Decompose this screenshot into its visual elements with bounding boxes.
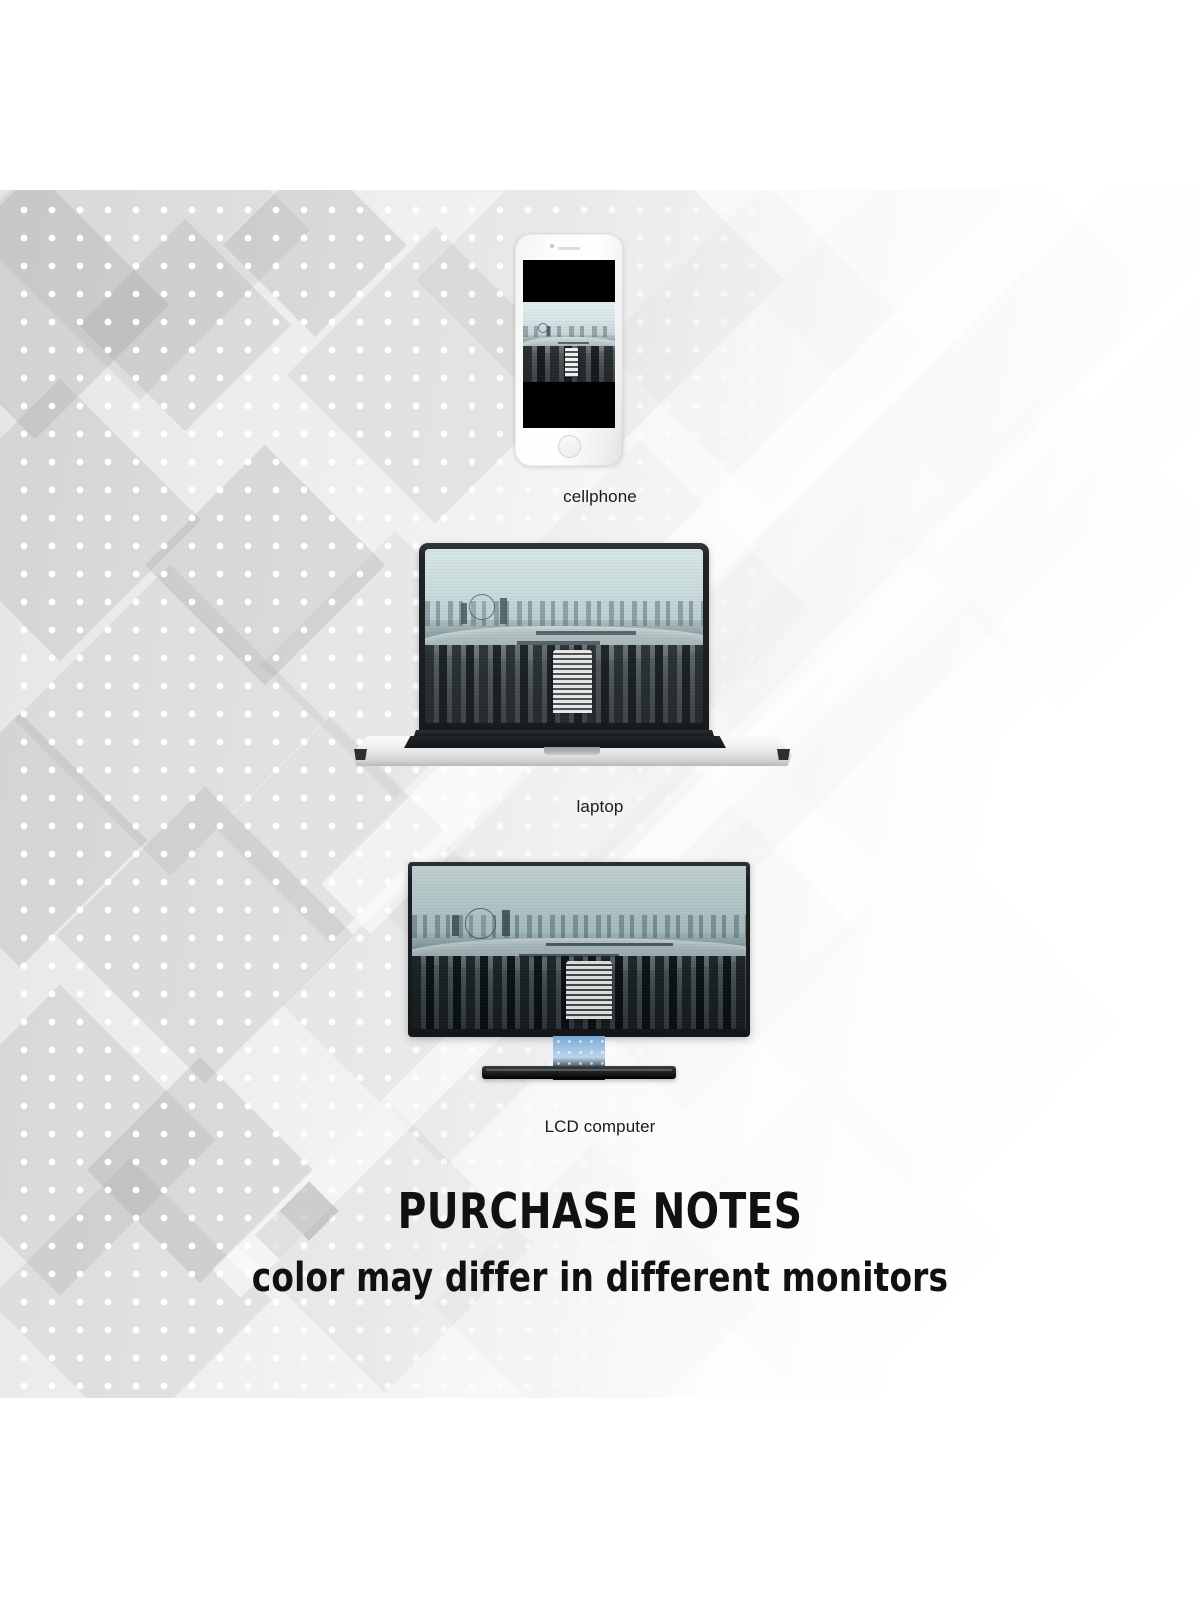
phone-screen	[523, 260, 615, 428]
photo-landmark-building	[565, 348, 578, 377]
photo-ferris-wheel	[465, 908, 495, 938]
phone-front-camera-icon	[550, 244, 554, 248]
phone-earpiece	[558, 247, 580, 250]
caption-cellphone: cellphone	[0, 487, 1200, 507]
laptop-foot-right	[777, 749, 790, 760]
monitor-screen	[412, 866, 746, 1029]
photo-tower	[547, 326, 550, 336]
laptop-screen	[425, 549, 703, 723]
photo-skyline	[412, 915, 746, 938]
phone-home-button[interactable]	[558, 435, 581, 458]
cityscape-photo-laptop	[425, 549, 703, 723]
photo-tower	[452, 915, 459, 936]
photo-bridge	[546, 943, 673, 947]
page-subtitle: color may differ in different monitors	[108, 1256, 1092, 1300]
photo-tower	[461, 603, 467, 624]
device-lcd-computer	[408, 862, 750, 1092]
photo-landmark-building	[566, 961, 613, 1020]
photo-ferris-wheel	[469, 594, 495, 620]
photo-skyline	[425, 601, 703, 625]
photo-tower	[502, 910, 510, 936]
laptop-lid	[419, 543, 709, 733]
laptop-trackpad-notch	[544, 747, 600, 755]
caption-lcd-computer: LCD computer	[0, 1117, 1200, 1137]
headline-block: PURCHASE NOTES color may differ in diffe…	[0, 1186, 1200, 1300]
cityscape-photo-phone	[523, 302, 615, 382]
photo-tower	[500, 598, 507, 624]
banner-canvas: cellphone	[0, 0, 1200, 1600]
cityscape-photo-monitor	[412, 866, 746, 1029]
page-title: PURCHASE NOTES	[120, 1186, 1080, 1238]
photo-bridge	[536, 631, 636, 635]
photo-bridge	[558, 342, 589, 344]
device-cellphone	[515, 234, 623, 466]
laptop-foot-left	[354, 749, 367, 760]
caption-laptop: laptop	[0, 797, 1200, 817]
photo-skyline	[523, 326, 615, 337]
device-laptop	[352, 543, 792, 771]
monitor-stand-base	[482, 1066, 676, 1079]
monitor-bezel	[408, 862, 750, 1037]
photo-landmark-building	[553, 650, 592, 713]
